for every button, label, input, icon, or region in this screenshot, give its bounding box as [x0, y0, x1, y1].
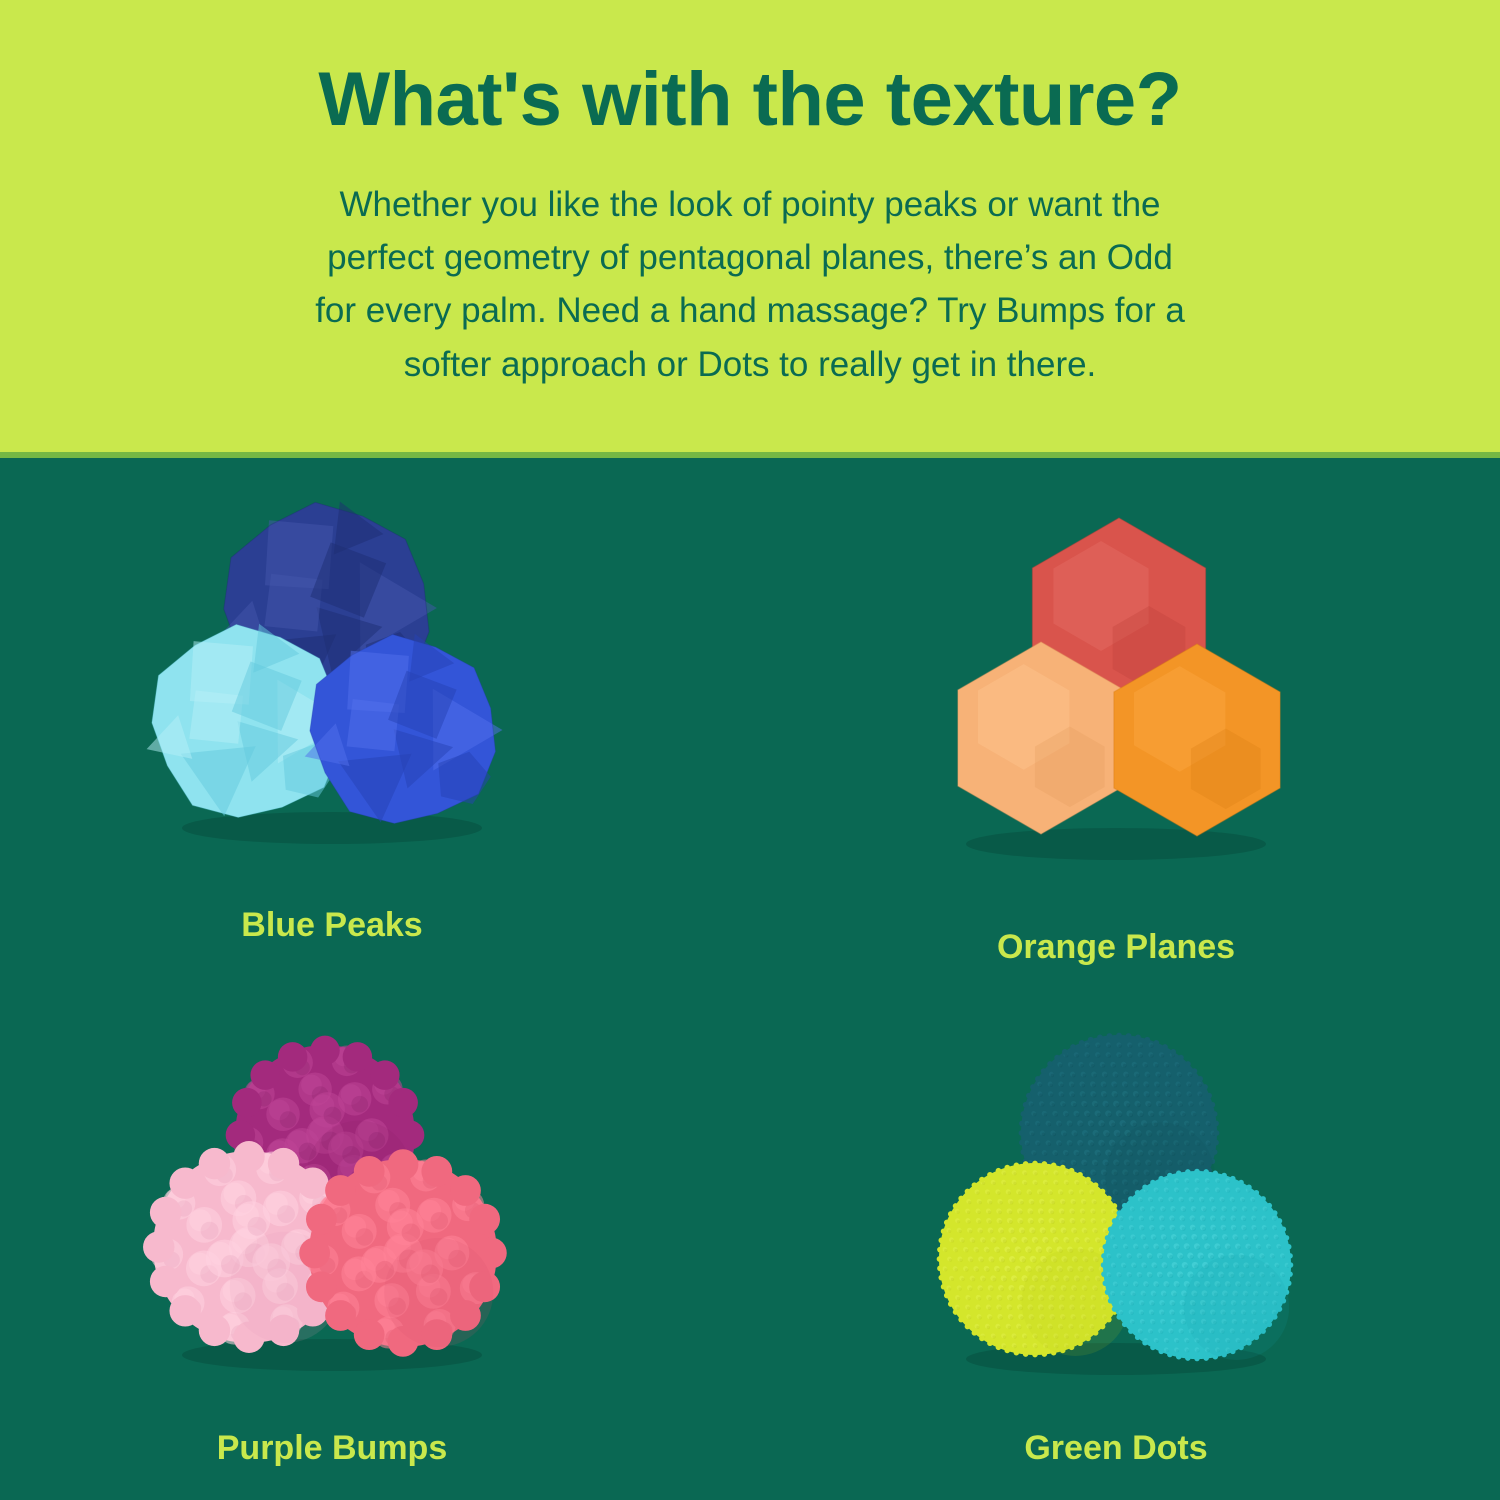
infographic-page: What's with the texture? Whether you lik… [0, 0, 1500, 1500]
product-label-blue-peaks: Blue Peaks [241, 906, 422, 945]
page-title: What's with the texture? [318, 62, 1181, 138]
intro-banner: What's with the texture? Whether you lik… [0, 0, 1500, 458]
product-photo-orange-planes [901, 506, 1331, 896]
product-card-green-dots[interactable]: Green Dots [750, 979, 1500, 1500]
intro-line-2: perfect geometry of pentagonal planes, t… [245, 231, 1255, 284]
product-label-purple-bumps: Purple Bumps [217, 1429, 447, 1468]
intro-line-3: for every palm. Need a hand massage? Try… [245, 284, 1255, 337]
product-label-green-dots: Green Dots [1024, 1429, 1207, 1468]
intro-paragraph: Whether you like the look of pointy peak… [245, 178, 1255, 391]
product-photo-blue-peaks [117, 490, 547, 880]
intro-line-1: Whether you like the look of pointy peak… [245, 178, 1255, 231]
product-card-purple-bumps[interactable]: Purple Bumps [0, 979, 750, 1500]
product-grid: Blue Peaks Orange Planes Purple Bumps Gr… [0, 458, 1500, 1500]
intro-line-4: softer approach or Dots to really get in… [245, 338, 1255, 391]
product-label-orange-planes: Orange Planes [997, 928, 1235, 967]
product-card-blue-peaks[interactable]: Blue Peaks [0, 458, 750, 979]
product-photo-purple-bumps [117, 1017, 547, 1407]
product-photo-green-dots [901, 1021, 1331, 1411]
product-card-orange-planes[interactable]: Orange Planes [750, 458, 1500, 979]
